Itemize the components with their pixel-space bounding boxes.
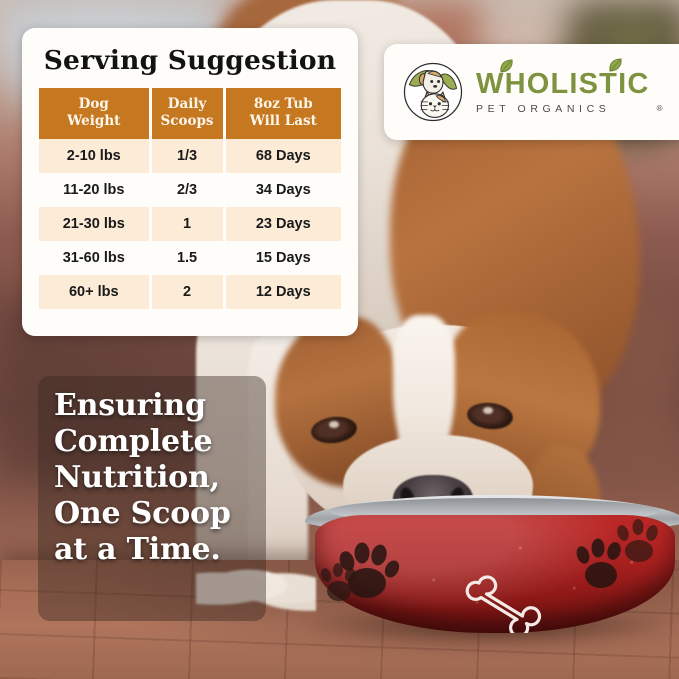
serving-suggestion-card: Serving Suggestion Dog Weight Daily Scoo…	[22, 28, 358, 336]
tagline-line: Nutrition,	[54, 460, 256, 496]
tagline-line: One Scoop	[54, 496, 256, 532]
leaf-icon	[607, 58, 623, 73]
column-header-line: Will Last	[250, 113, 317, 129]
registered-trademark-icon: ®	[657, 104, 663, 113]
table-header: Dog Weight Daily Scoops 8oz Tub Will Las…	[39, 88, 341, 139]
cell-dog-weight: 2-10 lbs	[39, 139, 149, 173]
column-header-line: Daily	[168, 96, 207, 112]
tagline-line: at a Time.	[54, 532, 256, 568]
tagline-line: Ensuring	[54, 388, 256, 424]
table-row: 21-30 lbs 1 23 Days	[39, 207, 341, 241]
table-row: 11-20 lbs 2/3 34 Days	[39, 173, 341, 207]
cell-tub-duration: 34 Days	[226, 173, 341, 207]
cell-tub-duration: 12 Days	[226, 275, 341, 309]
brand-tagline: PET ORGANICS ®	[476, 103, 650, 115]
cell-daily-scoops: 2	[152, 275, 223, 309]
column-header-tub-duration: 8oz Tub Will Last	[226, 88, 341, 139]
table-row: 31-60 lbs 1.5 15 Days	[39, 241, 341, 275]
table-header-row: Dog Weight Daily Scoops 8oz Tub Will Las…	[39, 88, 341, 139]
cell-daily-scoops: 1.5	[152, 241, 223, 275]
column-header-line: Dog	[79, 96, 109, 112]
paw-print-icon	[317, 561, 361, 605]
dog-cat-circle-icon	[402, 61, 464, 123]
dog-food-bowl	[305, 495, 679, 640]
leaf-icon	[498, 59, 514, 74]
marketing-tagline-overlay: Ensuring Complete Nutrition, One Scoop a…	[38, 376, 266, 621]
cell-dog-weight: 60+ lbs	[39, 275, 149, 309]
column-header-line: Scoops	[161, 113, 214, 129]
table-row: 2-10 lbs 1/3 68 Days	[39, 139, 341, 173]
page-title: Serving Suggestion	[36, 45, 344, 76]
cell-tub-duration: 23 Days	[226, 207, 341, 241]
dog-eye-highlight-right	[483, 407, 493, 414]
cell-daily-scoops: 1	[152, 207, 223, 241]
paw-print-icon	[613, 519, 665, 567]
cell-tub-duration: 15 Days	[226, 241, 341, 275]
column-header-line: Weight	[67, 113, 120, 129]
brand-name: WHOLISTIC	[476, 70, 650, 99]
cell-daily-scoops: 2/3	[152, 173, 223, 207]
cell-daily-scoops: 1/3	[152, 139, 223, 173]
cell-dog-weight: 11-20 lbs	[39, 173, 149, 207]
column-header-line: 8oz Tub	[254, 96, 313, 112]
cell-dog-weight: 31-60 lbs	[39, 241, 149, 275]
serving-suggestion-table: Dog Weight Daily Scoops 8oz Tub Will Las…	[36, 88, 344, 309]
tagline-line: Complete	[54, 424, 256, 460]
cell-dog-weight: 21-30 lbs	[39, 207, 149, 241]
column-header-dog-weight: Dog Weight	[39, 88, 149, 139]
brand-logo-card: WHOLISTIC PET ORGANICS ®	[384, 44, 679, 140]
column-header-daily-scoops: Daily Scoops	[152, 88, 223, 139]
brand-logo-text: WHOLISTIC PET ORGANICS ®	[476, 70, 650, 115]
dog-eye-highlight-left	[329, 421, 339, 428]
table-row: 60+ lbs 2 12 Days	[39, 275, 341, 309]
dog-bone-icon	[465, 567, 545, 633]
bowl-red-body	[315, 515, 675, 633]
table-body: 2-10 lbs 1/3 68 Days 11-20 lbs 2/3 34 Da…	[39, 139, 341, 309]
brand-tagline-text: PET ORGANICS	[476, 103, 610, 115]
cell-tub-duration: 68 Days	[226, 139, 341, 173]
